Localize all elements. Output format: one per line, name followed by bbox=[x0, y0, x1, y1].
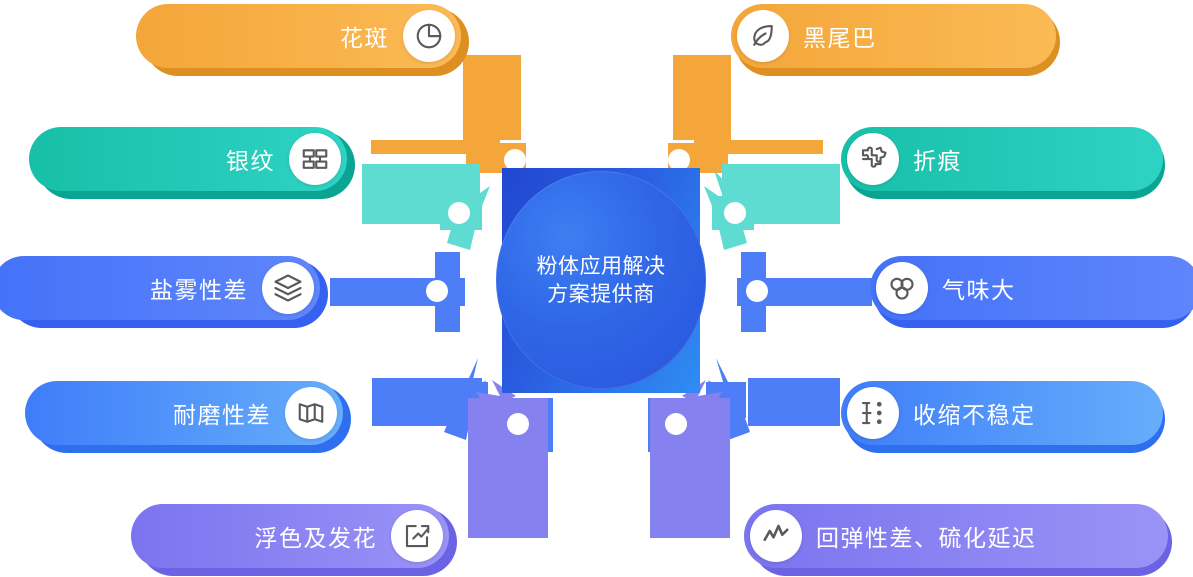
leaf-icon bbox=[737, 10, 789, 62]
connector-teal-left bbox=[362, 164, 490, 250]
open-book-icon bbox=[285, 387, 337, 439]
pill-label: 折痕 bbox=[913, 142, 962, 176]
pill-label: 黑尾巴 bbox=[803, 19, 877, 53]
pill-nai-mo-xing-cha[interactable]: 耐磨性差 bbox=[25, 381, 343, 445]
connector-purple-left bbox=[468, 380, 548, 538]
infographic-canvas: 粉体应用解决 方案提供商 花斑 银纹 bbox=[0, 0, 1193, 577]
puzzle-icon bbox=[847, 133, 899, 185]
pill-zhe-hen[interactable]: 折痕 bbox=[841, 127, 1163, 191]
pill-hui-tan-xing-cha[interactable]: 回弹性差、硫化延迟 bbox=[744, 504, 1168, 568]
pill-label: 气味大 bbox=[942, 271, 1016, 305]
connector-blue-left bbox=[330, 252, 465, 332]
connector-teal-right bbox=[704, 164, 840, 250]
sitemap-icon bbox=[847, 387, 899, 439]
line-chart-icon bbox=[750, 510, 802, 562]
recycle-icon bbox=[876, 262, 928, 314]
hub-text: 粉体应用解决 方案提供商 bbox=[502, 168, 700, 393]
layers-icon bbox=[262, 262, 314, 314]
pill-yan-wu-xing-cha[interactable]: 盐雾性差 bbox=[0, 256, 320, 320]
pill-qi-wei-da[interactable]: 气味大 bbox=[870, 256, 1193, 320]
pie-chart-icon bbox=[403, 10, 455, 62]
pill-yin-wen[interactable]: 银纹 bbox=[29, 127, 347, 191]
brick-wall-icon bbox=[289, 133, 341, 185]
pill-label: 浮色及发花 bbox=[255, 519, 378, 553]
hub-text-line-1: 粉体应用解决 bbox=[537, 253, 666, 281]
pill-label: 收缩不稳定 bbox=[913, 396, 1036, 430]
pill-hei-wei-ba[interactable]: 黑尾巴 bbox=[731, 4, 1056, 68]
pill-label: 盐雾性差 bbox=[150, 271, 248, 305]
center-hub: 粉体应用解决 方案提供商 bbox=[502, 168, 700, 393]
pill-label: 花斑 bbox=[340, 19, 389, 53]
pill-label: 耐磨性差 bbox=[173, 396, 271, 430]
pill-label: 回弹性差、硫化延迟 bbox=[816, 519, 1037, 553]
pill-fu-se-ji-fa-hua[interactable]: 浮色及发花 bbox=[131, 504, 449, 568]
hub-text-line-2: 方案提供商 bbox=[547, 281, 655, 309]
connector-blue-right bbox=[737, 252, 872, 332]
trending-up-icon bbox=[391, 510, 443, 562]
pill-shou-suo-bu-wen-ding[interactable]: 收缩不稳定 bbox=[841, 381, 1163, 445]
pill-label: 银纹 bbox=[226, 142, 275, 176]
pill-hua-ban[interactable]: 花斑 bbox=[136, 4, 461, 68]
connector-purple-right bbox=[650, 380, 730, 538]
